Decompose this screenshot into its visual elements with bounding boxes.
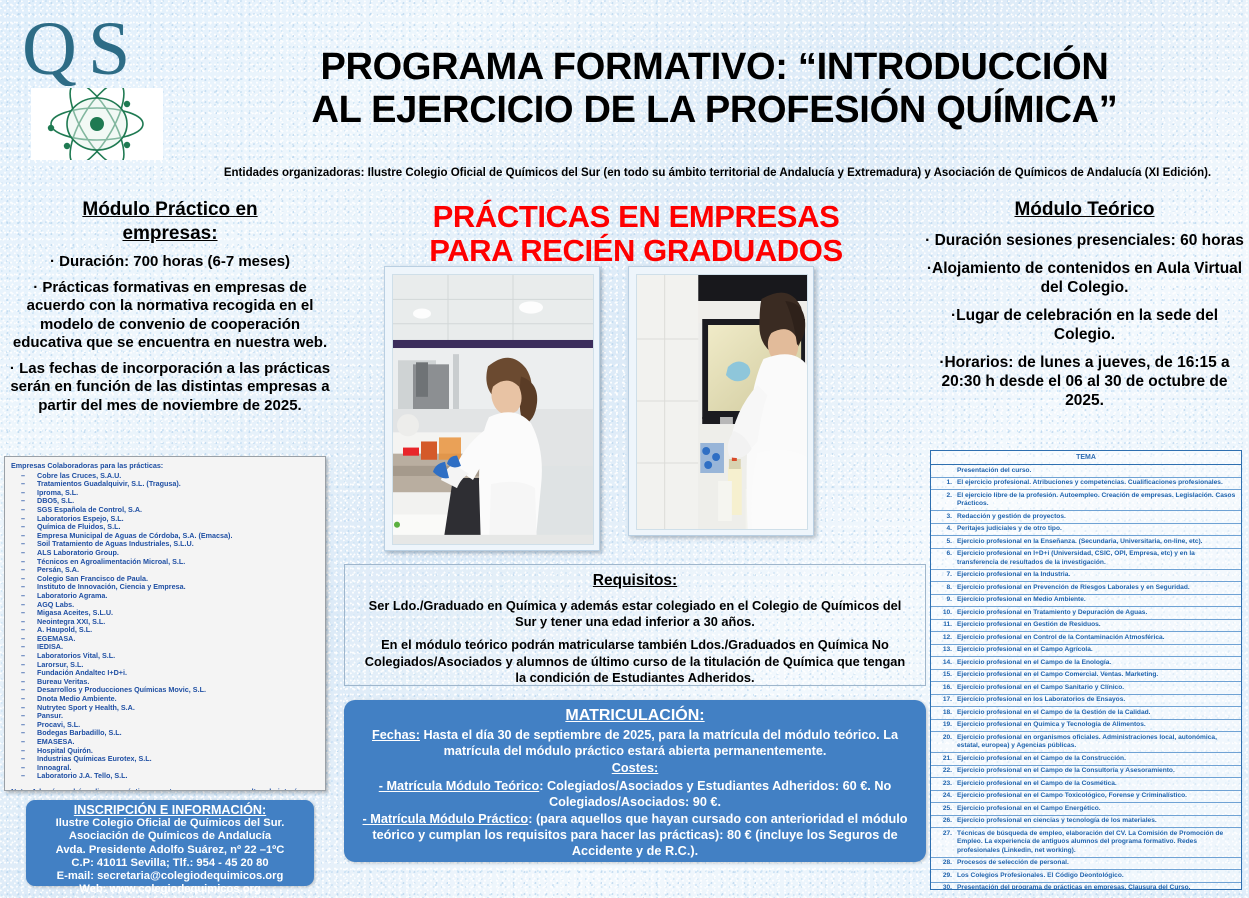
tema-row: 11.Ejercicio profesional en Gestión de R… bbox=[931, 620, 1241, 633]
tema-row-text: Ejercicio profesional en la Enseñanza. (… bbox=[957, 538, 1238, 547]
tema-row: 4.Peritajes judiciales y de otro tipo. bbox=[931, 524, 1241, 537]
tema-row-text: Ejercicio profesional en el Campo Comerc… bbox=[957, 671, 1238, 680]
red-title-line1: PRÁCTICAS EN EMPRESAS bbox=[356, 200, 916, 234]
tema-syllabus-table: TEMA Presentación del curso.1.El ejercic… bbox=[930, 450, 1242, 890]
contact-line-3: C.P: 41011 Sevilla; Tlf.: 954 - 45 20 80 bbox=[26, 857, 314, 870]
tema-row-number: 13. bbox=[935, 646, 957, 655]
tema-row-text: Ejercicio profesional en el Campo Sanita… bbox=[957, 684, 1238, 693]
tema-row-text: Redacción y gestión de proyectos. bbox=[957, 513, 1238, 522]
costes-label-row: Costes: bbox=[354, 760, 916, 776]
practical-bullet-0: · Duración: 700 horas (6-7 meses) bbox=[4, 253, 336, 272]
tema-row-text: Ejercicio profesional en el Campo de la … bbox=[957, 780, 1238, 789]
company-list-item: Nutrytec Sport y Health, S.A. bbox=[21, 704, 319, 713]
tema-row: 7.Ejercicio profesional en la Industria. bbox=[931, 570, 1241, 583]
tema-row: 29.Los Colegios Profesionales. El Código… bbox=[931, 870, 1241, 883]
tema-row-number: 11. bbox=[935, 621, 957, 630]
tema-row-text: Ejercicio profesional en la Industria. bbox=[957, 571, 1238, 580]
requisitos-box: Requisitos: Ser Ldo./Graduado en Química… bbox=[344, 564, 926, 686]
atom-logo-icon bbox=[31, 88, 163, 160]
tema-row-number: 21. bbox=[935, 755, 957, 764]
photo-gallery bbox=[378, 266, 918, 558]
tema-rows-container: Presentación del curso.1.El ejercicio pr… bbox=[931, 465, 1241, 890]
tema-row: 5.Ejercicio profesional en la Enseñanza.… bbox=[931, 536, 1241, 549]
tema-row: 24.Ejercicio profesional en el Campo Tox… bbox=[931, 791, 1241, 804]
tema-row-intro: Presentación del curso. bbox=[931, 465, 1241, 478]
tema-row: 21.Ejercicio profesional en el Campo de … bbox=[931, 753, 1241, 766]
tema-row-number: 29. bbox=[935, 872, 957, 881]
companies-note-label: Nota: bbox=[11, 787, 29, 791]
tema-row-text: Ejercicio profesional en Prevención de R… bbox=[957, 584, 1238, 593]
tema-row-number: 25. bbox=[935, 805, 957, 814]
poster-title: PROGRAMA FORMATIVO: “INTRODUCCIÓN AL EJE… bbox=[192, 46, 1237, 132]
practical-bullet-1: · Prácticas formativas en empresas de ac… bbox=[4, 279, 336, 353]
tema-row-number: 28. bbox=[935, 859, 957, 868]
tema-row-text: El ejercicio libre de la profesión. Auto… bbox=[957, 492, 1238, 509]
tema-row-text: Ejercicio profesional en Gestión de Resi… bbox=[957, 621, 1238, 630]
theoretical-bullet-2: ·Lugar de celebración en la sede del Col… bbox=[920, 306, 1249, 344]
tema-row-text: Ejercicio profesional en el Campo de la … bbox=[957, 659, 1238, 668]
tema-row-text: El ejercicio profesional. Atribuciones y… bbox=[957, 479, 1238, 488]
tema-row-text: Ejercicio profesional en organismos ofic… bbox=[957, 734, 1238, 751]
contact-line-1: Asociación de Químicos de Andalucía bbox=[26, 830, 314, 843]
tema-row: 6.Ejercicio profesional en I+D+i (Univer… bbox=[931, 549, 1241, 570]
qs-logo: Q S bbox=[22, 14, 182, 86]
poster-root: Q S PROGRAMA FORMATIVO: “INTRODUCCIÓN AL… bbox=[0, 0, 1249, 898]
tema-row-text: Ejercicio profesional en el Campo Toxico… bbox=[957, 792, 1238, 801]
tema-row-text: Ejercicio profesional en el Campo Agríco… bbox=[957, 646, 1238, 655]
tema-row-text: Presentación del programa de prácticas e… bbox=[957, 884, 1238, 890]
tema-row-text: Ejercicio profesional en el Campo Energé… bbox=[957, 805, 1238, 814]
coste-teorico-label: - Matrícula Módulo Teórico bbox=[379, 779, 539, 793]
costes-label: Costes: bbox=[612, 761, 659, 775]
tema-row-number: 12. bbox=[935, 634, 957, 643]
organizers-subtitle: Entidades organizadoras: Ilustre Colegio… bbox=[200, 166, 1235, 181]
practical-bullet-2: · Las fechas de incorporación a las prác… bbox=[4, 360, 336, 416]
coste-teorico-row: - Matrícula Módulo Teórico: Colegiados/A… bbox=[354, 778, 916, 810]
tema-row-number: 18. bbox=[935, 709, 957, 718]
company-list-item: EGEMASA. bbox=[21, 635, 319, 644]
tema-row-text: Ejercicio profesional en Química y Tecno… bbox=[957, 721, 1238, 730]
tema-row: 26.Ejercicio profesional en ciencias y t… bbox=[931, 816, 1241, 829]
tema-row-number: 19. bbox=[935, 721, 957, 730]
tema-row-number: 5. bbox=[935, 538, 957, 547]
tema-row: 22.Ejercicio profesional en el Campo de … bbox=[931, 766, 1241, 779]
practicas-red-title: PRÁCTICAS EN EMPRESAS PARA RECIÉN GRADUA… bbox=[356, 200, 916, 268]
requisitos-paragraph-2: En el módulo teórico podrán matricularse… bbox=[359, 637, 911, 686]
tema-row: 20.Ejercicio profesional en organismos o… bbox=[931, 732, 1241, 753]
tema-row: 30.Presentación del programa de práctica… bbox=[931, 883, 1241, 891]
company-list-item: Laboratorio J.A. Tello, S.L. bbox=[21, 772, 319, 781]
tema-row: 9.Ejercicio profesional en Medio Ambient… bbox=[931, 595, 1241, 608]
poster-title-line2: AL EJERCICIO DE LA PROFESIÓN QUÍMICA” bbox=[192, 89, 1237, 132]
companies-list: Cobre las Cruces, S.A.U.Tratamientos Gua… bbox=[11, 472, 319, 781]
tema-row: 23.Ejercicio profesional en el Campo de … bbox=[931, 778, 1241, 791]
coste-teorico-text: : Colegiados/Asociados y Estudiantes Adh… bbox=[539, 779, 891, 809]
tema-row-number: 10. bbox=[935, 609, 957, 618]
tema-row: 3.Redacción y gestión de proyectos. bbox=[931, 511, 1241, 524]
requisitos-paragraph-1: Ser Ldo./Graduado en Química y además es… bbox=[359, 598, 911, 630]
tema-row: 25.Ejercicio profesional en el Campo Ene… bbox=[931, 803, 1241, 816]
tema-row-text: Peritajes judiciales y de otro tipo. bbox=[957, 525, 1238, 534]
tema-row-number: 23. bbox=[935, 780, 957, 789]
tema-row: 28.Procesos de selección de personal. bbox=[931, 858, 1241, 871]
fechas-text: Hasta el día 30 de septiembre de 2025, p… bbox=[420, 728, 898, 758]
tema-row: 10.Ejercicio profesional en Tratamiento … bbox=[931, 607, 1241, 620]
coste-practico-label: - Matrícula Módulo Práctico bbox=[363, 812, 529, 826]
contact-info-box[interactable]: INSCRIPCIÓN E INFORMACIÓN: Ilustre Coleg… bbox=[26, 800, 314, 886]
tema-row: 16.Ejercicio profesional en el Campo San… bbox=[931, 682, 1241, 695]
tema-row-number: 2. bbox=[935, 492, 957, 509]
tema-row-text: Ejercicio profesional en los Laboratorio… bbox=[957, 696, 1238, 705]
tema-row: 12.Ejercicio profesional en Control de l… bbox=[931, 632, 1241, 645]
red-title-line2: PARA RECIÉN GRADUADOS bbox=[356, 234, 916, 268]
companies-title: Empresas Colaboradoras para las práctica… bbox=[11, 462, 319, 471]
tema-row-number: 17. bbox=[935, 696, 957, 705]
tema-row: 18.Ejercicio profesional en el Campo de … bbox=[931, 707, 1241, 720]
tema-row: 1.El ejercicio profesional. Atribuciones… bbox=[931, 478, 1241, 491]
practical-module-heading-line1: Módulo Práctico en bbox=[82, 199, 257, 220]
lab-photo-woman bbox=[384, 266, 600, 551]
tema-row: 13.Ejercicio profesional en el Campo Agr… bbox=[931, 645, 1241, 658]
tema-row-number: 20. bbox=[935, 734, 957, 751]
matriculacion-fechas: Fechas: Hasta el día 30 de septiembre de… bbox=[354, 727, 916, 759]
tema-row-number: 14. bbox=[935, 659, 957, 668]
svg-text:Q: Q bbox=[22, 14, 77, 86]
tema-row: 17.Ejercicio profesional en los Laborato… bbox=[931, 695, 1241, 708]
fechas-label: Fechas: bbox=[372, 728, 420, 742]
poster-title-line1: PROGRAMA FORMATIVO: “INTRODUCCIÓN bbox=[192, 46, 1237, 89]
lab-photo-man bbox=[628, 266, 814, 536]
practical-module-heading-line2: empresas: bbox=[122, 223, 217, 244]
companies-note-text: Además podrá realizarse prácticas en otr… bbox=[11, 787, 319, 791]
tema-row: 27.Técnicas de búsqueda de empleo, elabo… bbox=[931, 828, 1241, 858]
collaborating-companies-box: Empresas Colaboradoras para las práctica… bbox=[4, 456, 326, 791]
companies-note: Nota: Además podrá realizarse prácticas … bbox=[11, 788, 319, 791]
requisitos-title: Requisitos: bbox=[359, 571, 911, 591]
tema-row-text: Ejercicio profesional en el Campo de la … bbox=[957, 767, 1238, 776]
contact-line-0: Ilustre Colegio Oficial de Químicos del … bbox=[26, 817, 314, 830]
tema-row-number: 30. bbox=[935, 884, 957, 890]
tema-row-text: Ejercicio profesional en Tratamiento y D… bbox=[957, 609, 1238, 618]
tema-row-text: Ejercicio profesional en Medio Ambiente. bbox=[957, 596, 1238, 605]
coste-practico-row: - Matrícula Módulo Práctico: (para aquel… bbox=[354, 811, 916, 860]
theoretical-bullet-0: · Duración sesiones presenciales: 60 hor… bbox=[920, 231, 1249, 250]
tema-row-number: 7. bbox=[935, 571, 957, 580]
theoretical-module-column: Módulo Teórico · Duración sesiones prese… bbox=[920, 198, 1249, 410]
tema-row-number: 9. bbox=[935, 596, 957, 605]
tema-table-header: TEMA bbox=[931, 451, 1241, 465]
theoretical-module-heading: Módulo Teórico bbox=[920, 198, 1249, 222]
contact-website[interactable]: Web: www.colegiodequimicos.org bbox=[26, 883, 314, 896]
matriculacion-title: MATRICULACIÓN: bbox=[354, 705, 916, 726]
tema-row-text: Ejercicio profesional en Control de la C… bbox=[957, 634, 1238, 643]
tema-row-text: Ejercicio profesional en I+D+i (Universi… bbox=[957, 550, 1238, 567]
tema-row-number: 3. bbox=[935, 513, 957, 522]
contact-email[interactable]: E-mail: secretaria@colegiodequimicos.org bbox=[26, 870, 314, 883]
theoretical-bullet-1: ·Alojamiento de contenidos en Aula Virtu… bbox=[920, 259, 1249, 297]
contact-line-2: Avda. Presidente Adolfo Suárez, nº 22 –1… bbox=[26, 844, 314, 857]
tema-row-number: 26. bbox=[935, 817, 957, 826]
tema-row-text: Procesos de selección de personal. bbox=[957, 859, 1238, 868]
tema-row-number: 15. bbox=[935, 671, 957, 680]
tema-row-text: Los Colegios Profesionales. El Código De… bbox=[957, 872, 1238, 881]
tema-row-number: 1. bbox=[935, 479, 957, 488]
tema-row-text: Ejercicio profesional en el Campo de la … bbox=[957, 755, 1238, 764]
theoretical-module-heading-text: Módulo Teórico bbox=[1014, 199, 1154, 220]
tema-row-number: 27. bbox=[935, 830, 957, 856]
tema-row-text: Ejercicio profesional en ciencias y tecn… bbox=[957, 817, 1238, 826]
tema-row: 8.Ejercicio profesional en Prevención de… bbox=[931, 582, 1241, 595]
tema-row: 15.Ejercicio profesional en el Campo Com… bbox=[931, 670, 1241, 683]
matriculacion-box: MATRICULACIÓN: Fechas: Hasta el día 30 d… bbox=[344, 700, 926, 862]
practical-module-heading: Módulo Práctico en empresas: bbox=[4, 198, 336, 246]
tema-row: 2.El ejercicio libre de la profesión. Au… bbox=[931, 490, 1241, 511]
tema-row-text: Ejercicio profesional en el Campo de la … bbox=[957, 709, 1238, 718]
contact-title: INSCRIPCIÓN E INFORMACIÓN: bbox=[26, 804, 314, 817]
tema-row-number: 16. bbox=[935, 684, 957, 693]
tema-row: 19.Ejercicio profesional en Química y Te… bbox=[931, 720, 1241, 733]
tema-row-number: 8. bbox=[935, 584, 957, 593]
practical-module-column: Módulo Práctico en empresas: · Duración:… bbox=[4, 198, 336, 415]
svg-text:S: S bbox=[88, 14, 130, 86]
tema-row-number: 4. bbox=[935, 525, 957, 534]
theoretical-bullet-3: ·Horarios: de lunes a jueves, de 16:15 a… bbox=[920, 353, 1249, 410]
tema-row-number: 24. bbox=[935, 792, 957, 801]
tema-row: 14.Ejercicio profesional en el Campo de … bbox=[931, 657, 1241, 670]
tema-row-number: 6. bbox=[935, 550, 957, 567]
tema-row-number: 22. bbox=[935, 767, 957, 776]
tema-row-text: Técnicas de búsqueda de empleo, elaborac… bbox=[957, 830, 1238, 856]
